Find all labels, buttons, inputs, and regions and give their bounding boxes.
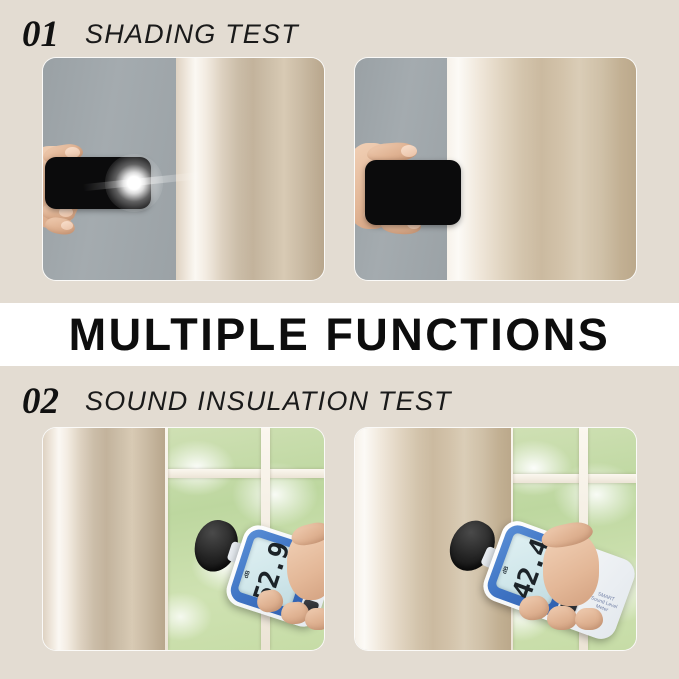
scene-flashlight-behind-curtain	[355, 58, 636, 280]
flashlight-beam	[105, 154, 163, 212]
section-number-02: 02	[22, 383, 59, 420]
photo-card-shading-light-blocked	[355, 58, 636, 280]
smartphone	[365, 160, 461, 225]
scene-meter-open-window: 52.9 dB	[43, 428, 324, 650]
section-title-01: SHADING TEST	[85, 21, 299, 48]
scene-meter-behind-curtain: 42.4 dB SMART Sound Level Meter	[355, 428, 636, 650]
curtain-fabric	[176, 58, 324, 280]
fingernail	[401, 145, 417, 157]
finger-little	[575, 608, 603, 630]
window-mullion-horizontal	[161, 469, 324, 478]
section-title-02: SOUND INSULATION TEST	[85, 388, 452, 415]
finger-ring	[547, 606, 577, 630]
center-banner: MULTIPLE FUNCTIONS	[0, 303, 679, 366]
fingernail	[61, 221, 73, 230]
curtain-fabric	[43, 428, 165, 650]
infographic-page: 01 SHADING TEST	[0, 0, 679, 679]
window-mullion-horizontal	[505, 474, 636, 483]
curtain-fabric	[447, 58, 636, 280]
section-number-01: 01	[22, 16, 59, 53]
photo-card-shading-light-on	[43, 58, 324, 280]
scene-flashlight-on-wall	[43, 58, 324, 280]
banner-title: MULTIPLE FUNCTIONS	[69, 309, 611, 361]
section-header-01: 01 SHADING TEST	[0, 6, 679, 62]
section-header-02: 02 SOUND INSULATION TEST	[0, 373, 679, 429]
photo-card-sound-closed-curtain: 42.4 dB SMART Sound Level Meter	[355, 428, 636, 650]
photo-card-sound-open-window: 52.9 dB	[43, 428, 324, 650]
finger-little	[305, 608, 324, 630]
